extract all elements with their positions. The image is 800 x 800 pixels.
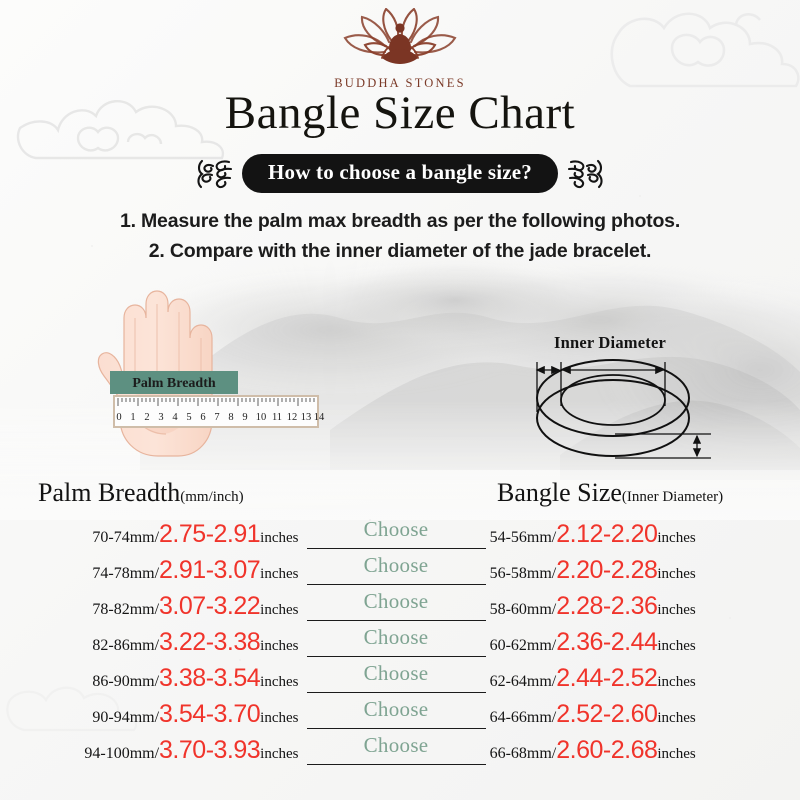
palm-breadth-cell: 82-86mm/3.22-3.38inches xyxy=(0,630,303,655)
choose-cell[interactable]: Choose xyxy=(303,703,490,737)
choose-underline xyxy=(307,620,486,621)
choose-link[interactable]: Choose xyxy=(364,661,429,686)
bangle-inch-unit: inches xyxy=(657,674,695,691)
palm-inch-value: 3.38-3.54 xyxy=(159,666,260,691)
svg-text:0: 0 xyxy=(116,412,121,423)
bangle-inch-unit: inches xyxy=(657,710,695,727)
bangle-inch-value: 2.12-2.20 xyxy=(556,522,657,547)
svg-text:6: 6 xyxy=(200,412,205,423)
palm-inch-unit: inches xyxy=(260,746,298,763)
instruction-line-1: 1. Measure the palm max breadth as per t… xyxy=(0,206,800,236)
choose-underline xyxy=(307,584,486,585)
choose-cell[interactable]: Choose xyxy=(303,559,490,593)
palm-breadth-cell: 78-82mm/3.07-3.22inches xyxy=(0,594,303,619)
palm-inch-unit: inches xyxy=(260,602,298,619)
palm-breadth-cell: 90-94mm/3.54-3.70inches xyxy=(0,702,303,727)
svg-text:7: 7 xyxy=(214,412,219,423)
svg-text:13: 13 xyxy=(301,412,312,423)
svg-text:8: 8 xyxy=(228,412,233,423)
palm-inch-value: 2.75-2.91 xyxy=(159,522,260,547)
bangle-size-cell: 56-58mm/2.20-2.28inches xyxy=(490,558,800,583)
palm-inch-unit: inches xyxy=(260,566,298,583)
choose-underline xyxy=(307,728,486,729)
bangle-mm-value: 58-60mm xyxy=(490,601,552,619)
palm-mm-value: 94-100mm xyxy=(84,745,154,763)
bangle-inch-value: 2.36-2.44 xyxy=(556,630,657,655)
svg-text:1: 1 xyxy=(130,412,135,423)
lotus-meditation-icon xyxy=(341,8,459,70)
bangle-diagram xyxy=(515,330,725,470)
svg-text:5: 5 xyxy=(186,412,191,423)
ruler-icon: 012 345 678 91011 121314 xyxy=(114,396,325,427)
svg-text:4: 4 xyxy=(172,412,178,423)
bangle-inch-value: 2.44-2.52 xyxy=(556,666,657,691)
palm-inch-value: 3.70-3.93 xyxy=(159,738,260,763)
bangle-size-cell: 64-66mm/2.52-2.60inches xyxy=(490,702,800,727)
bangle-inch-unit: inches xyxy=(657,530,695,547)
choose-link[interactable]: Choose xyxy=(364,697,429,722)
choose-cell[interactable]: Choose xyxy=(303,667,490,701)
bangle-size-subtitle: (Inner Diameter) xyxy=(622,489,723,505)
bangle-inch-value: 2.60-2.68 xyxy=(556,738,657,763)
bangle-mm-value: 66-68mm xyxy=(490,745,552,763)
brand-logo: BUDDHA STONES xyxy=(0,8,800,91)
subtitle-banner: How to choose a bangle size? xyxy=(0,154,800,193)
palm-breadth-cell: 94-100mm/3.70-3.93inches xyxy=(0,738,303,763)
palm-breadth-subtitle: (mm/inch) xyxy=(180,489,243,505)
choose-link[interactable]: Choose xyxy=(364,553,429,578)
bangle-mm-value: 64-66mm xyxy=(490,709,552,727)
bangle-inch-unit: inches xyxy=(657,566,695,583)
page-title: Bangle Size Chart xyxy=(0,86,800,140)
bangle-size-title: Bangle Size xyxy=(497,478,622,507)
palm-breadth-title: Palm Breadth xyxy=(38,478,180,507)
choose-link[interactable]: Choose xyxy=(364,733,429,758)
palm-inch-value: 2.91-3.07 xyxy=(159,558,260,583)
palm-inch-value: 3.22-3.38 xyxy=(159,630,260,655)
palm-inch-unit: inches xyxy=(260,674,298,691)
bangle-size-cell: 54-56mm/2.12-2.20inches xyxy=(490,522,800,547)
choose-cell[interactable]: Choose xyxy=(303,523,490,557)
palm-breadth-cell: 74-78mm/2.91-3.07inches xyxy=(0,558,303,583)
palm-measurement-figure: Palm Breadth 012 345 678 91011 121314 xyxy=(80,278,330,463)
palm-mm-value: 90-94mm xyxy=(92,709,154,727)
choose-underline xyxy=(307,548,486,549)
palm-inch-unit: inches xyxy=(260,710,298,727)
choose-link[interactable]: Choose xyxy=(364,589,429,614)
palm-mm-value: 86-90mm xyxy=(92,673,154,691)
table-row: 94-100mm/3.70-3.93inchesChoose66-68mm/2.… xyxy=(0,738,800,774)
bangle-size-cell: 66-68mm/2.60-2.68inches xyxy=(490,738,800,763)
bangle-size-cell: 58-60mm/2.28-2.36inches xyxy=(490,594,800,619)
svg-text:2: 2 xyxy=(144,412,149,423)
bangle-size-cell: 62-64mm/2.44-2.52inches xyxy=(490,666,800,691)
bangle-inch-value: 2.52-2.60 xyxy=(556,702,657,727)
ornament-flourish-icon xyxy=(567,157,607,191)
choose-underline xyxy=(307,656,486,657)
palm-inch-unit: inches xyxy=(260,530,298,547)
instruction-line-2: 2. Compare with the inner diameter of th… xyxy=(0,236,800,266)
palm-inch-value: 3.54-3.70 xyxy=(159,702,260,727)
palm-inch-unit: inches xyxy=(260,638,298,655)
svg-text:Palm Breadth: Palm Breadth xyxy=(132,376,216,391)
svg-text:14: 14 xyxy=(314,412,325,423)
instruction-list: 1. Measure the palm max breadth as per t… xyxy=(0,206,800,266)
palm-mm-value: 82-86mm xyxy=(92,637,154,655)
svg-text:10: 10 xyxy=(256,412,267,423)
choose-link[interactable]: Choose xyxy=(364,517,429,542)
choose-link[interactable]: Choose xyxy=(364,625,429,650)
bangle-ring-icon xyxy=(537,360,689,456)
bangle-mm-value: 62-64mm xyxy=(490,673,552,691)
size-table: 70-74mm/2.75-2.91inchesChoose54-56mm/2.1… xyxy=(0,522,800,774)
choose-underline xyxy=(307,764,486,765)
palm-breadth-cell: 70-74mm/2.75-2.91inches xyxy=(0,522,303,547)
palm-inch-value: 3.07-3.22 xyxy=(159,594,260,619)
svg-text:12: 12 xyxy=(287,412,298,423)
palm-mm-value: 78-82mm xyxy=(92,601,154,619)
svg-text:3: 3 xyxy=(158,412,163,423)
bangle-inch-value: 2.20-2.28 xyxy=(556,558,657,583)
palm-breadth-cell: 86-90mm/3.38-3.54inches xyxy=(0,666,303,691)
svg-text:9: 9 xyxy=(242,412,247,423)
palm-mm-value: 70-74mm xyxy=(92,529,154,547)
bangle-inch-unit: inches xyxy=(657,638,695,655)
palm-breadth-badge: Palm Breadth xyxy=(110,371,238,394)
bangle-size-cell: 60-62mm/2.36-2.44inches xyxy=(490,630,800,655)
choose-cell[interactable]: Choose xyxy=(303,595,490,629)
choose-cell[interactable]: Choose xyxy=(303,631,490,665)
choose-cell[interactable]: Choose xyxy=(303,739,490,773)
bangle-inch-unit: inches xyxy=(657,602,695,619)
choose-underline xyxy=(307,692,486,693)
how-to-choose-banner: How to choose a bangle size? xyxy=(242,154,558,193)
palm-mm-value: 74-78mm xyxy=(92,565,154,583)
column-header-bangle-size: Bangle Size(Inner Diameter) xyxy=(497,478,723,508)
bangle-inch-unit: inches xyxy=(657,746,695,763)
bangle-mm-value: 54-56mm xyxy=(490,529,552,547)
bangle-inch-value: 2.28-2.36 xyxy=(556,594,657,619)
svg-text:11: 11 xyxy=(272,412,282,423)
bangle-mm-value: 60-62mm xyxy=(490,637,552,655)
ornament-flourish-icon xyxy=(193,157,233,191)
bangle-mm-value: 56-58mm xyxy=(490,565,552,583)
column-header-palm-breadth: Palm Breadth(mm/inch) xyxy=(38,478,244,508)
